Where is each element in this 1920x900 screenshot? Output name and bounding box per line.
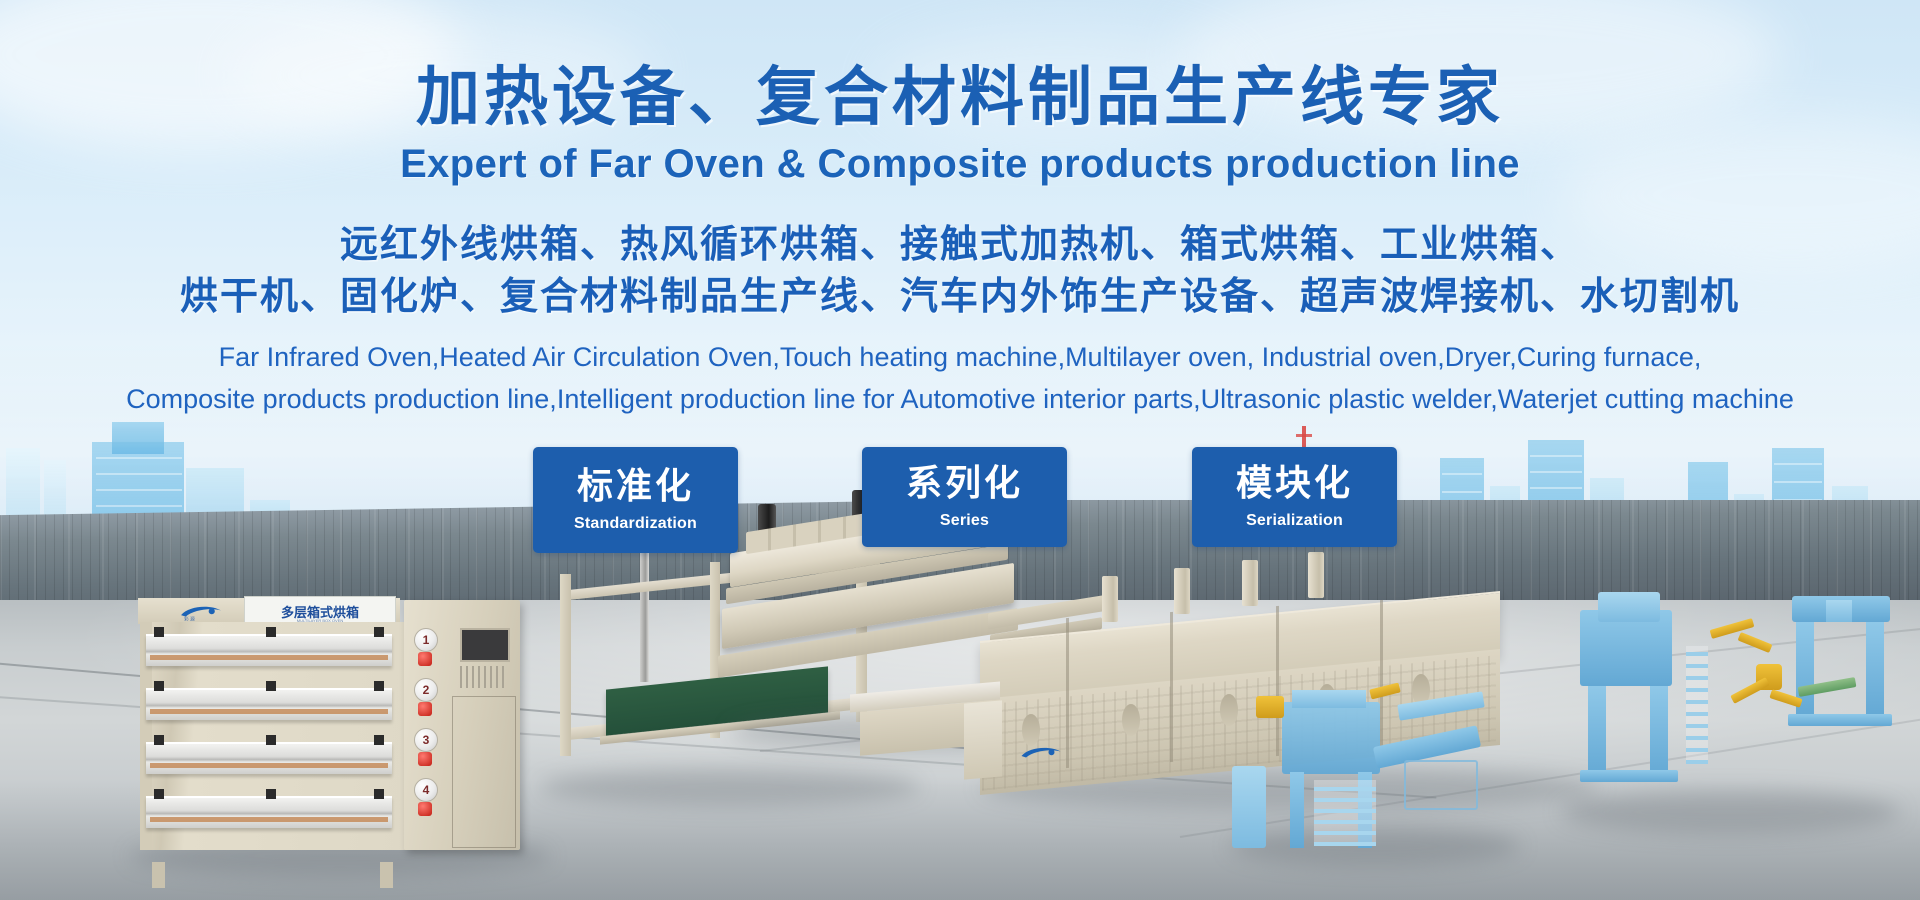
badge-label-cn: 系列化 (906, 466, 1023, 502)
badge-label-en: Standardization (574, 516, 697, 532)
badge-standardization[interactable]: 标准化 Standardization (533, 447, 738, 553)
badge-series[interactable]: 系列化 Series (862, 447, 1067, 547)
badge-label-cn: 标准化 (577, 469, 694, 505)
hero-banner: 彩 源 多层箱式烘箱 MULTILAYER BOX OVEN 1 2 3 (0, 0, 1920, 900)
badge-label-en: Series (940, 513, 989, 529)
oven-control-cabinet: 1 2 3 4 (404, 600, 520, 850)
machine-multilayer-box-oven: 彩 源 多层箱式烘箱 MULTILAYER BOX OVEN 1 2 3 (140, 622, 540, 862)
indicator-lamp-2: 2 (414, 678, 438, 702)
indicator-lamp-4: 4 (414, 778, 438, 802)
product-list-en-line-2: Composite products production line,Intel… (0, 378, 1920, 420)
machine-robotic-trim-cell (1560, 590, 1920, 840)
badge-label-cn: 模块化 (1236, 466, 1353, 502)
banner-copy: 加热设备、复合材料制品生产线专家 Expert of Far Oven & Co… (0, 0, 1920, 420)
feature-badge-group: 标准化 Standardization 系列化 Series 模块化 Seria… (0, 447, 1920, 562)
page-title: 加热设备、复合材料制品生产线专家 (0, 66, 1920, 130)
badge-label-en: Serialization (1246, 513, 1343, 529)
badge-serialization[interactable]: 模块化 Serialization (1192, 447, 1397, 547)
page-subtitle: Expert of Far Oven & Composite products … (0, 144, 1920, 184)
product-list-en-line-1: Far Infrared Oven,Heated Air Circulation… (0, 336, 1920, 378)
brand-logo-icon: 彩 源 (178, 602, 224, 622)
brand-logo-icon (1018, 744, 1064, 762)
indicator-lamp-3: 3 (414, 728, 438, 752)
indicator-lamp-1: 1 (414, 628, 438, 652)
machine-waterjet-cutting-cell (1230, 640, 1530, 870)
product-list-cn-line-2: 烘干机、固化炉、复合材料制品生产线、汽车内外饰生产设备、超声波焊接机、水切割机 (0, 270, 1920, 322)
product-list-cn-line-1: 远红外线烘箱、热风循环烘箱、接触式加热机、箱式烘箱、工业烘箱、 (0, 218, 1920, 270)
